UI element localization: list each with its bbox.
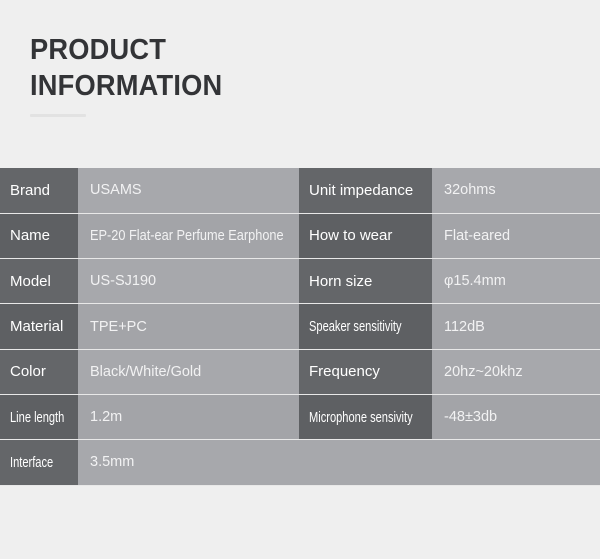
table-row: Line length 1.2m Microphone sensivity -4… (0, 394, 600, 439)
spec-label-name: Name (0, 213, 78, 258)
table-row: Interface 3.5mm (0, 440, 600, 485)
spec-empty-cell-label (299, 440, 432, 485)
spec-value-name-text: EP-20 Flat-ear Perfume Earphone (90, 228, 299, 244)
table-row: Model US-SJ190 Horn size φ15.4mm (0, 259, 600, 304)
table-row: Name EP-20 Flat-ear Perfume Earphone How… (0, 213, 600, 258)
spec-value-interface: 3.5mm (78, 440, 299, 485)
product-spec-table: Brand USAMS Unit impedance 32ohms Name E… (0, 168, 600, 486)
spec-label-frequency: Frequency (299, 349, 432, 394)
spec-value-frequency: 20hz~20khz (432, 349, 600, 394)
spec-label-speaker-sensitivity: Speaker sensitivity (299, 304, 432, 349)
spec-value-how-to-wear: Flat-eared (432, 213, 600, 258)
spec-value-horn-size: φ15.4mm (432, 259, 600, 304)
page-title-line-2: INFORMATION (30, 68, 406, 104)
spec-value-line-length: 1.2m (78, 394, 299, 439)
spec-label-how-to-wear: How to wear (299, 213, 432, 258)
table-row: Brand USAMS Unit impedance 32ohms (0, 168, 600, 213)
spec-label-unit-impedance: Unit impedance (299, 168, 432, 213)
title-underline-rule (30, 114, 86, 117)
spec-value-color: Black/White/Gold (78, 349, 299, 394)
spec-label-interface-text: Interface (10, 454, 78, 471)
spec-value-unit-impedance: 32ohms (432, 168, 600, 213)
spec-label-brand: Brand (0, 168, 78, 213)
spec-label-material: Material (0, 304, 78, 349)
spec-value-microphone-sensitivity: -48±3db (432, 394, 600, 439)
page-title-line-1: PRODUCT (30, 32, 406, 68)
spec-value-speaker-sensitivity: 112dB (432, 304, 600, 349)
spec-label-microphone-sensitivity-text: Microphone sensivity (309, 409, 432, 426)
spec-label-microphone-sensitivity: Microphone sensivity (299, 394, 432, 439)
page-title: PRODUCT INFORMATION (30, 32, 430, 117)
table-row: Material TPE+PC Speaker sensitivity 112d… (0, 304, 600, 349)
spec-label-line-length-text: Line length (10, 409, 78, 426)
spec-label-interface: Interface (0, 440, 78, 485)
spec-value-brand: USAMS (78, 168, 299, 213)
table-row: Color Black/White/Gold Frequency 20hz~20… (0, 349, 600, 394)
spec-label-model: Model (0, 259, 78, 304)
spec-label-horn-size: Horn size (299, 259, 432, 304)
spec-label-color: Color (0, 349, 78, 394)
spec-label-line-length: Line length (0, 394, 78, 439)
spec-value-material: TPE+PC (78, 304, 299, 349)
spec-label-speaker-sensitivity-text: Speaker sensitivity (309, 318, 432, 335)
spec-empty-cell-value (432, 440, 600, 485)
spec-value-model: US-SJ190 (78, 259, 299, 304)
spec-value-name: EP-20 Flat-ear Perfume Earphone (78, 213, 299, 258)
